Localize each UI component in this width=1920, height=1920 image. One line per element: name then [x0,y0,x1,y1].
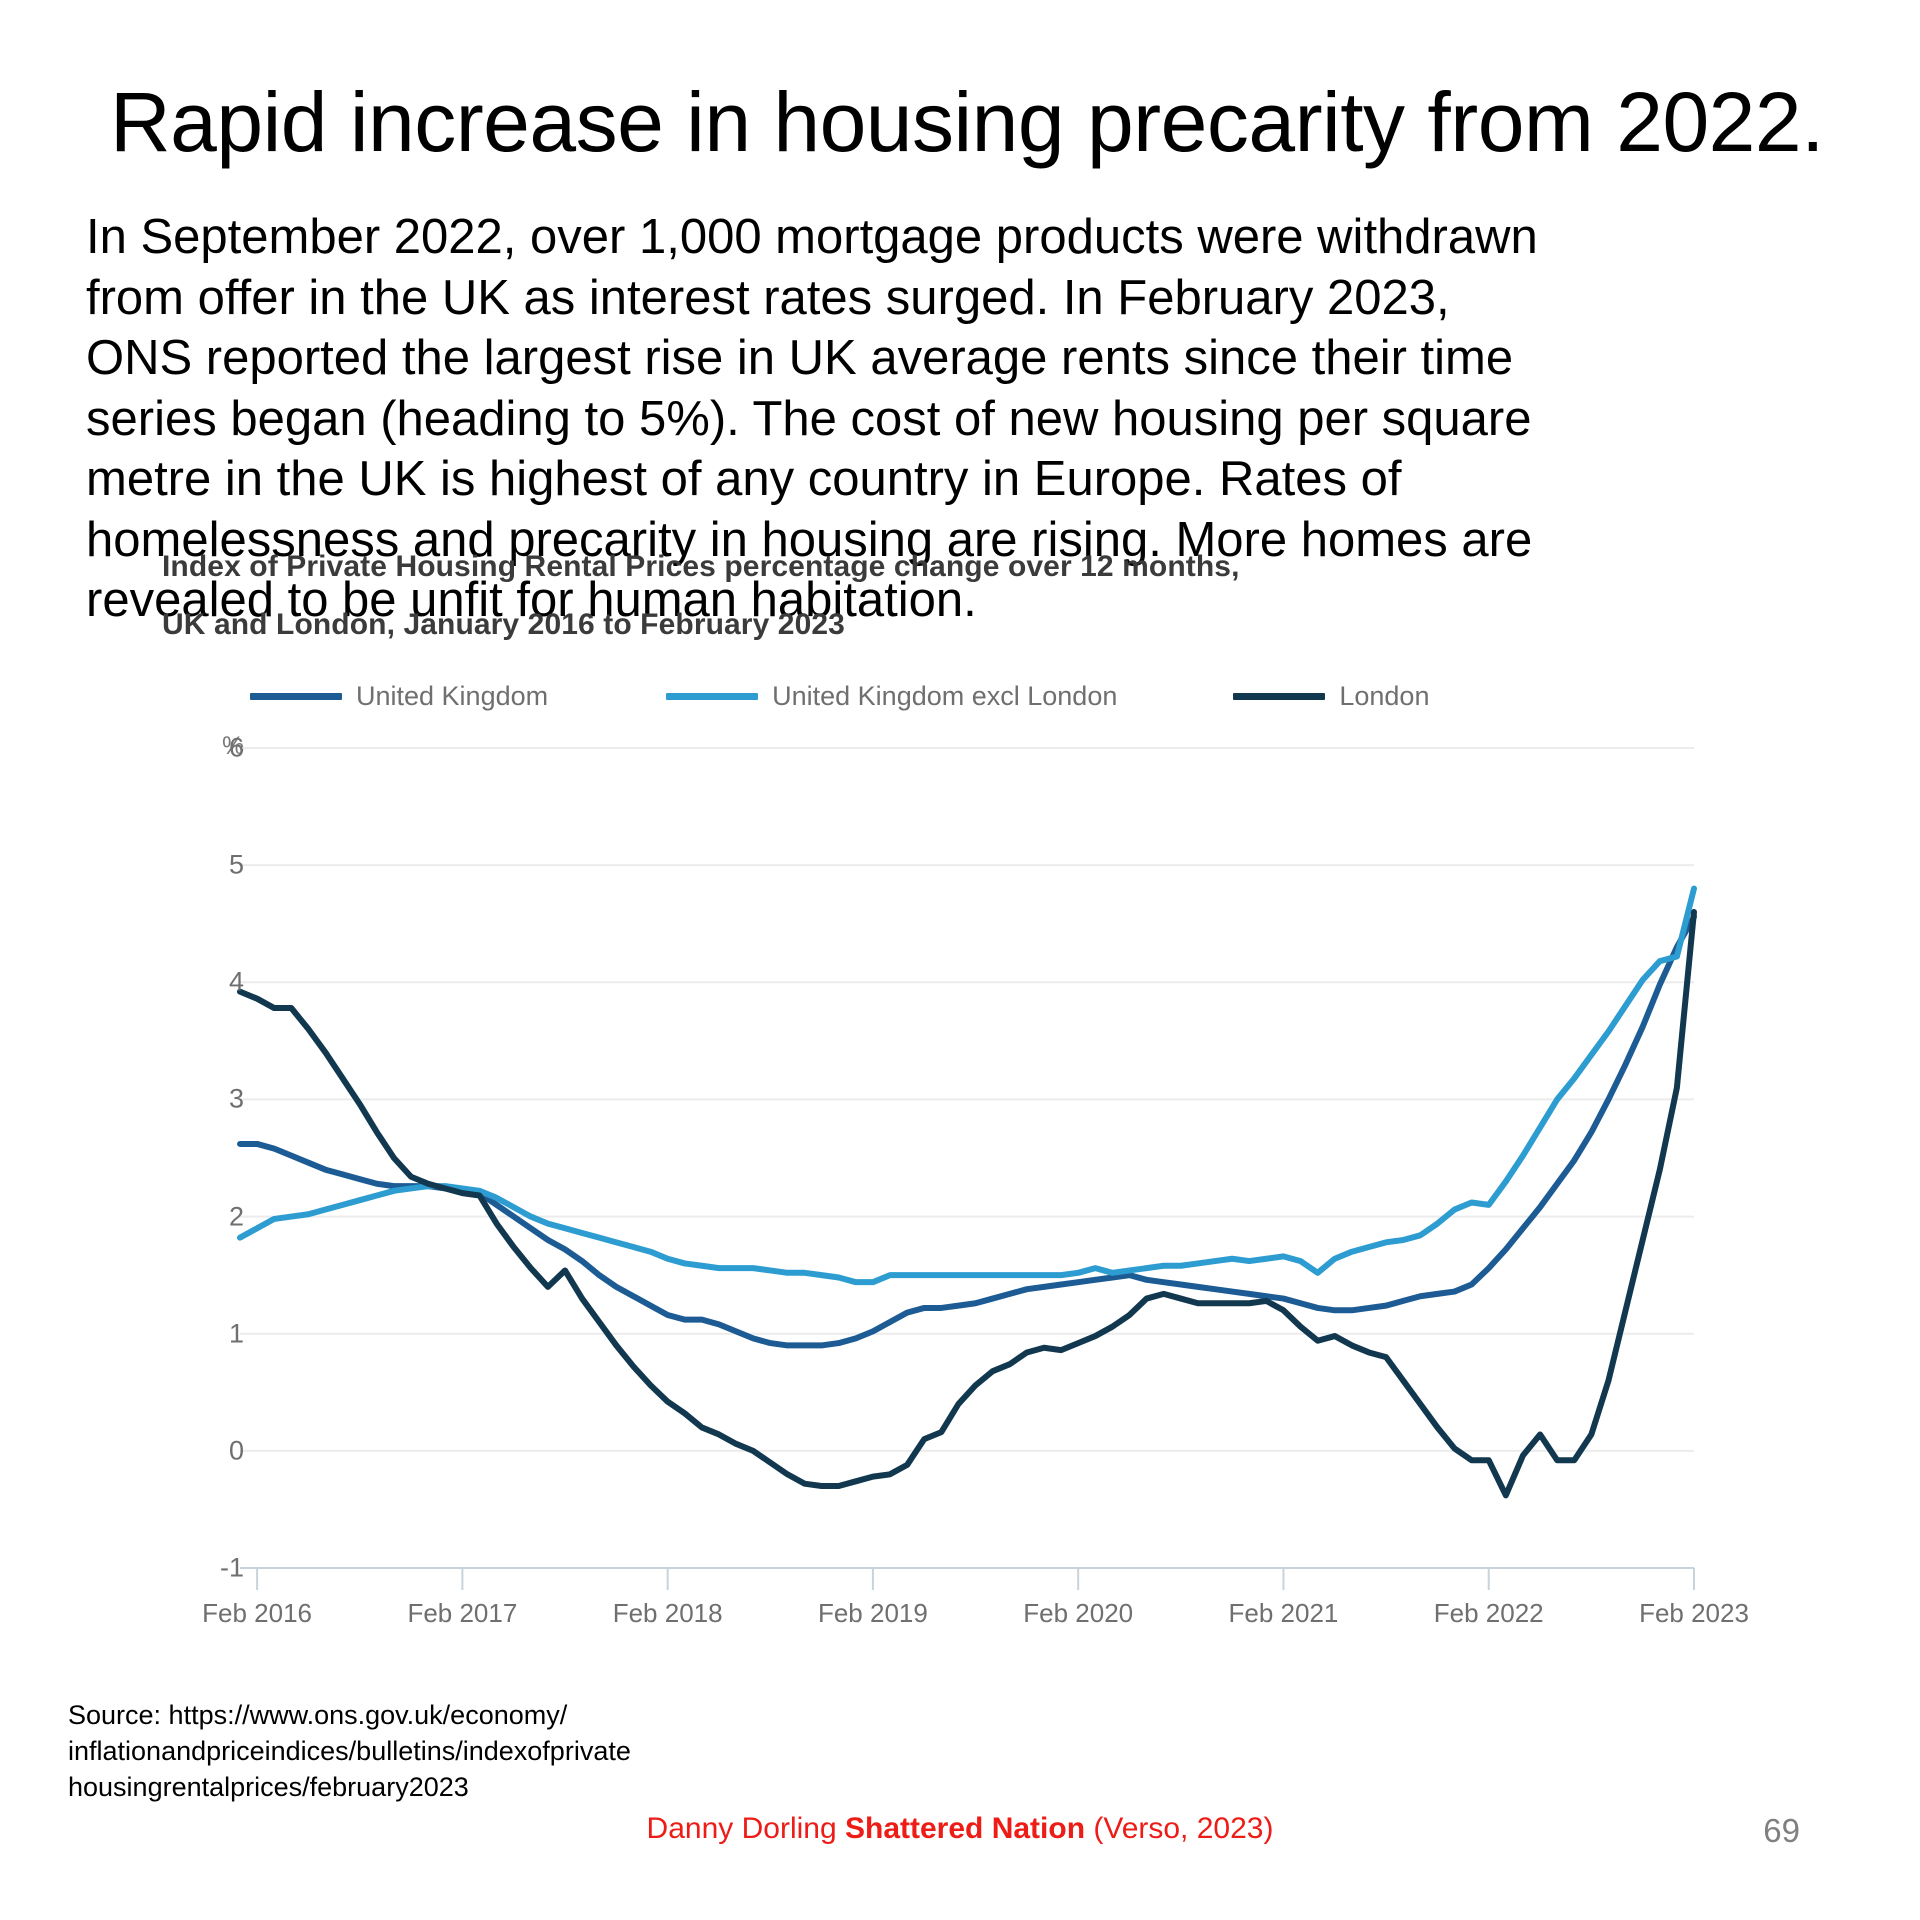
y-axis-tick-label: 2 [184,1201,244,1232]
legend-swatch-icon [250,693,342,700]
plot-area: % 6543210-1 Feb 2016Feb 2017Feb 2018Feb … [162,730,1702,1660]
x-axis-tick-label: Feb 2016 [202,1598,312,1629]
footer-credit: Danny Dorling Shattered Nation (Verso, 2… [0,1812,1920,1846]
y-axis-tick-label: 0 [184,1435,244,1466]
x-axis-tick-label: Feb 2020 [1023,1598,1133,1629]
y-axis-tick-label: -1 [184,1553,244,1584]
x-axis-tick-label: Feb 2019 [818,1598,928,1629]
x-axis-tick-label: Feb 2018 [613,1598,723,1629]
y-axis-tick-label: 3 [184,1084,244,1115]
y-axis-tick-label: 1 [184,1318,244,1349]
source-line: Source: https://www.ons.gov.uk/economy/ [68,1698,768,1734]
source-note: Source: https://www.ons.gov.uk/economy/ … [68,1698,768,1806]
legend-item-london[interactable]: London [1233,681,1429,712]
footer-book-title: Shattered Nation [845,1812,1085,1845]
legend-label: United Kingdom excl London [772,681,1117,712]
footer-author: Danny Dorling [647,1812,845,1845]
chart-title: Index of Private Housing Rental Prices p… [162,550,1240,584]
x-axis-tick-label: Feb 2021 [1229,1598,1339,1629]
page-number: 69 [1763,1812,1800,1850]
legend-label: United Kingdom [356,681,548,712]
y-axis-tick-label: 5 [184,850,244,881]
legend-swatch-icon [666,693,758,700]
legend-swatch-icon [1233,693,1325,700]
legend-item-united-kingdom[interactable]: United Kingdom [250,681,548,712]
legend-item-united-kingdom-excl-london[interactable]: United Kingdom excl London [666,681,1117,712]
slide: Rapid increase in housing precarity from… [0,0,1920,1920]
y-axis-tick-label: 4 [184,967,244,998]
source-line: inflationandpriceindices/bulletins/index… [68,1734,768,1770]
y-axis-tick-label: 6 [184,733,244,764]
chart-container: Index of Private Housing Rental Prices p… [0,540,1920,1690]
line-chart-svg [162,730,1702,1660]
chart-legend: United Kingdom United Kingdom excl Londo… [250,678,1490,714]
x-axis-tick-label: Feb 2017 [407,1598,517,1629]
chart-subtitle: UK and London, January 2016 to February … [162,608,845,642]
x-axis-tick-label: Feb 2023 [1639,1598,1749,1629]
x-axis-tick-label: Feb 2022 [1434,1598,1544,1629]
source-line: housingrentalprices/february2023 [68,1770,768,1806]
legend-label: London [1339,681,1429,712]
footer-publisher: (Verso, 2023) [1085,1812,1273,1845]
page-title: Rapid increase in housing precarity from… [110,78,1830,166]
